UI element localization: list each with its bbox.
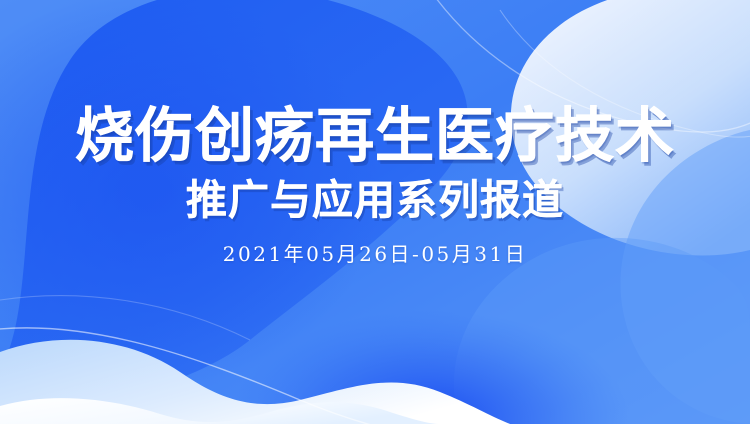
banner-title-sub: 推广与应用系列报道 bbox=[186, 178, 564, 223]
banner-content: 烧伤创疡再生医疗技术 推广与应用系列报道 2021年05月26日-05月31日 bbox=[0, 0, 750, 424]
banner-date-range: 2021年05月26日-05月31日 bbox=[223, 238, 527, 267]
banner-title-main: 烧伤创疡再生医疗技术 bbox=[75, 104, 675, 168]
promo-banner: 烧伤创疡再生医疗技术 推广与应用系列报道 2021年05月26日-05月31日 bbox=[0, 0, 750, 424]
